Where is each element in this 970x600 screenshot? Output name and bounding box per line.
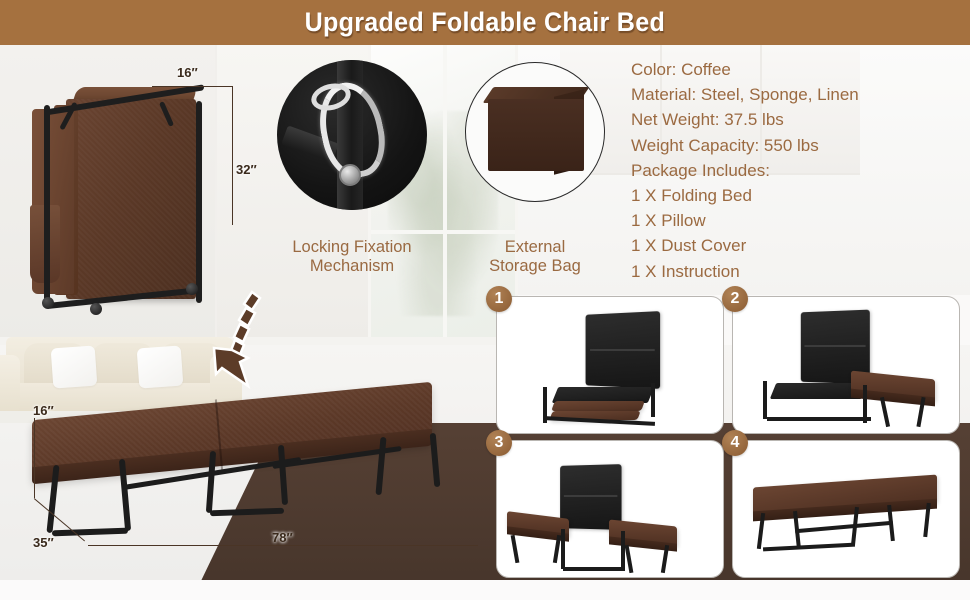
step-3-illustration [497, 441, 723, 577]
folded-cushion [551, 401, 645, 411]
bed-base-rail [763, 543, 855, 552]
locking-mechanism-detail-photo [277, 60, 427, 210]
chair-base-rail [767, 417, 871, 421]
spec-item-pillow: 1 X Pillow [631, 208, 961, 233]
spec-package-header: Package Includes: [631, 158, 961, 183]
chair-leg [763, 381, 767, 419]
dim-line-folded-height [232, 86, 233, 225]
bed-leg [430, 433, 441, 487]
spec-weight-capacity: Weight Capacity: 550 lbs [631, 133, 961, 158]
chair-leg [561, 529, 565, 569]
step-2-illustration [733, 297, 959, 433]
frame-bar-right [196, 101, 202, 303]
backrest-seam [564, 495, 618, 497]
frame-bar-left [44, 105, 50, 301]
chair-backrest [586, 311, 661, 389]
caster-wheel [90, 303, 102, 315]
step-card-1[interactable]: 1 [496, 296, 724, 434]
caster-wheel [42, 297, 54, 309]
chair-leg [621, 531, 625, 571]
spec-item-instruction: 1 X Instruction [631, 259, 961, 284]
spec-item-folding-bed: 1 X Folding Bed [631, 183, 961, 208]
header-banner: Upgraded Foldable Chair Bed [0, 0, 970, 45]
bed-foot-rail [52, 528, 128, 537]
throw-pillow [137, 346, 184, 389]
page-title: Upgraded Foldable Chair Bed [305, 7, 666, 38]
storage-bag-detail-photo [465, 62, 605, 202]
caption-line-2: Mechanism [266, 257, 438, 276]
dim-label-folded-width: 16″ [177, 65, 198, 80]
backrest-seam [805, 345, 866, 347]
step-1-illustration [497, 297, 723, 433]
locking-mechanism-caption: Locking Fixation Mechanism [266, 238, 438, 276]
dim-line-bed-length [88, 545, 478, 546]
dust-cover-front [488, 99, 584, 171]
dim-label-folded-height: 32″ [236, 162, 257, 177]
chair-leg [651, 383, 655, 417]
throw-pillow [51, 346, 98, 389]
spec-item-dust-cover: 1 X Dust Cover [631, 233, 961, 258]
spec-material: Material: Steel, Sponge, Linen [631, 82, 961, 107]
sofa-arm-left [0, 355, 20, 413]
storage-bag-caption: External Storage Bag [470, 238, 600, 276]
dim-line-bed-thickness [34, 418, 35, 498]
transform-arrow-icon [192, 288, 264, 393]
spec-color: Color: Coffee [631, 57, 961, 82]
step-badge-1: 1 [486, 286, 512, 312]
dim-label-bed-length: 78″ [272, 530, 293, 545]
step-cards-grid: 1 2 [488, 290, 962, 578]
chair-base-rail [563, 567, 625, 571]
infographic-canvas: Upgraded Foldable Chair Bed [0, 0, 970, 600]
bed-foot-rail [210, 508, 284, 517]
step-card-2[interactable]: 2 [732, 296, 960, 434]
right-leg [625, 545, 634, 573]
left-leg [511, 535, 520, 563]
locking-bolt [339, 164, 361, 186]
step-card-3[interactable]: 3 [496, 440, 724, 578]
step-badge-3: 3 [486, 430, 512, 456]
bed-cross-brace [795, 521, 893, 534]
specification-list: Color: Coffee Material: Steel, Sponge, L… [631, 57, 961, 284]
folded-mattress-panel [66, 99, 196, 299]
dim-label-bed-thickness: 16″ [33, 403, 54, 418]
backrest-seam [590, 349, 656, 351]
unfolded-bed-photo [22, 393, 482, 553]
step-badge-2: 2 [722, 286, 748, 312]
step-4-illustration [733, 441, 959, 577]
dim-line-folded-width [152, 86, 232, 87]
spec-net-weight: Net Weight: 37.5 lbs [631, 107, 961, 132]
caption-line-1: External [470, 238, 600, 257]
dim-label-bed-depth: 35″ [33, 535, 54, 550]
caption-line-1: Locking Fixation [266, 238, 438, 257]
caption-line-2: Storage Bag [470, 257, 600, 276]
window-mullion-horizontal [371, 230, 515, 234]
step-badge-4: 4 [722, 430, 748, 456]
step-card-4[interactable]: 4 [732, 440, 960, 578]
window-mullion-vertical [443, 45, 447, 375]
